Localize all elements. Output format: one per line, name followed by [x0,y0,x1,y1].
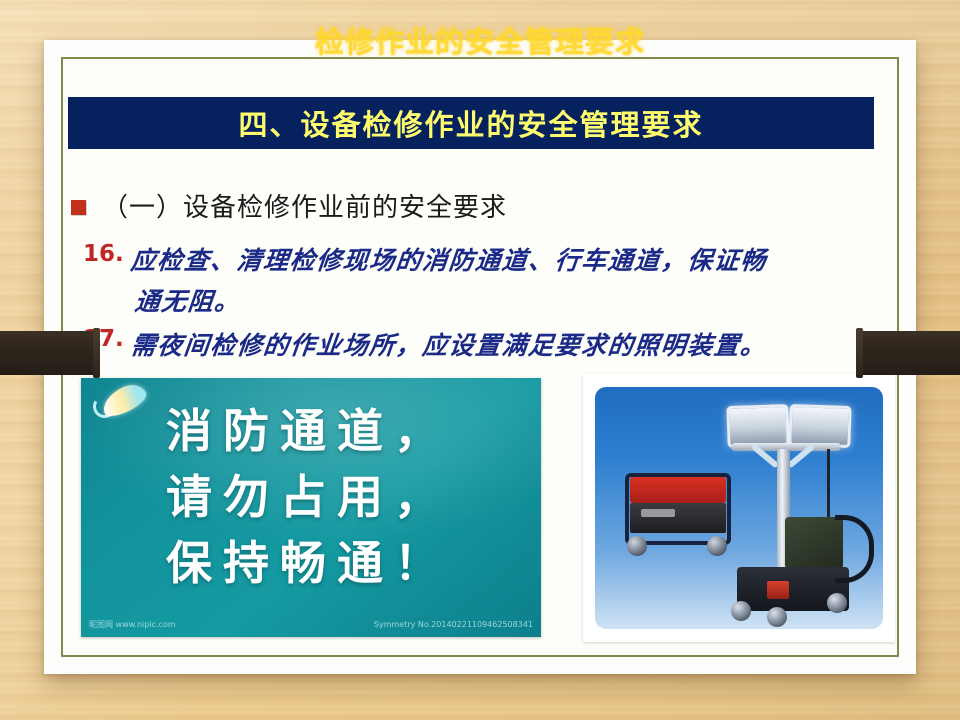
square-bullet-icon [71,200,86,215]
list-item-16-continuation: 通无阻。 [135,282,241,318]
slide-title: 四、设备检修作业的安全管理要求 [238,102,703,144]
floodlight-right [788,404,851,448]
floodlight-left [726,404,789,448]
left-rail-cap [93,328,100,378]
right-rail-bar [856,331,960,375]
presentation-slide: 四、设备检修作业的安全管理要求 （一）设备检修作业前的安全要求 16. 应检查、… [44,40,916,674]
sign-line-1: 消防通道， [166,398,533,464]
list-item-16-number: 16. [83,241,124,267]
sign-line-2: 请勿占用， [166,464,533,530]
sign-footer-id: Symmetry No.20140221109462508341 [374,620,533,629]
sign-footer: 昵图网 www.nipic.com Symmetry No.2014022110… [81,615,541,633]
slide-title-bar: 四、设备检修作业的安全管理要求 [68,97,874,149]
list-item-16: 16. 应检查、清理检修现场的消防通道、行车通道，保证畅 [83,241,767,277]
section-heading-text: （一）设备检修作业前的安全要求 [102,187,507,224]
mobile-light-tower-icon [723,405,873,619]
portable-generator-icon [625,473,731,545]
cart-wheel-2 [767,607,787,627]
sign-logo-label [95,416,99,425]
lighting-equipment-photo-frame [583,374,895,642]
slide-inner-frame: 四、设备检修作业的安全管理要求 （一）设备检修作业前的安全要求 16. 应检查、… [61,57,899,657]
cart-wheel-3 [827,593,847,613]
list-item-17: 17. 需夜间检修的作业场所，应设置满足要求的照明装置。 [83,326,767,362]
tower-red-part [767,581,789,599]
generator-wheel-left [627,536,647,556]
coiled-cable [835,515,874,583]
power-cord [827,449,830,523]
list-item-16-line1: 应检查、清理检修现场的消防通道、行车通道，保证畅 [129,241,769,277]
fire-lane-sign-image: 消防通道， 请勿占用， 保持畅通！ 昵图网 www.nipic.com Symm… [81,378,541,637]
generator-frame [625,473,731,545]
list-item-17-line1: 需夜间检修的作业场所，应设置满足要求的照明装置。 [129,326,769,362]
sign-line-3: 保持畅通！ [166,530,533,596]
cart-wheel-1 [731,601,751,621]
lighting-equipment-photo [595,387,883,629]
left-rail-bar [0,331,100,375]
pictures-row: 消防通道， 请勿占用， 保持畅通！ 昵图网 www.nipic.com Symm… [63,374,897,639]
right-rail-cap [856,328,863,378]
sign-footer-source: 昵图网 www.nipic.com [89,619,176,630]
sign-text-block: 消防通道， 请勿占用， 保持畅通！ [166,398,533,596]
section-heading-row: （一）设备检修作业前的安全要求 [71,187,507,224]
sign-logo-icon [91,386,163,432]
sign-logo-swirl [98,380,150,421]
list-item-16-line2: 通无阻。 [133,282,243,318]
